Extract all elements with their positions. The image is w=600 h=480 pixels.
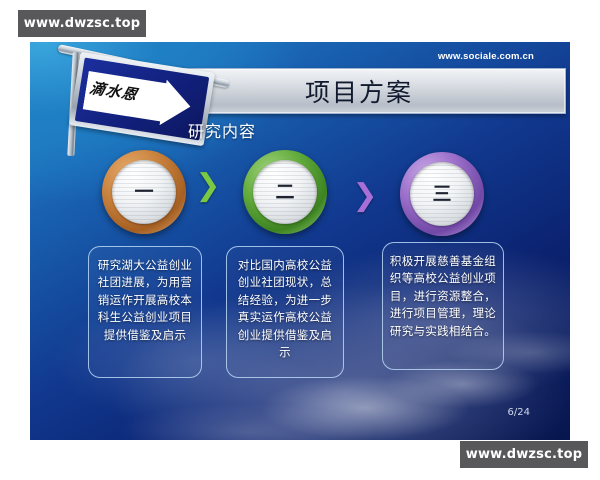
presentation-slide: www.sociale.com.cn 项目方案 滴水恩 研究内容 一 ❯ [30, 42, 570, 440]
step-textbox-3: 积极开展慈善基金组织等高校公益创业项目，进行资源整合，进行项目管理，理论研究与实… [382, 242, 504, 370]
step-textbox-1: 研究湖大公益创业社团进展，为用营销运作开展高校本科生公益创业项目提供借鉴及启示 [88, 246, 202, 378]
connector-arrow-2-icon: ❯ [352, 182, 378, 212]
connector-arrow-1-icon: ❯ [195, 172, 221, 202]
watermark-top-left: www.dwzsc.top [18, 10, 146, 37]
screenshot-root: www.sociale.com.cn 项目方案 滴水恩 研究内容 一 ❯ [0, 0, 600, 480]
step-circle-3: 三 [400, 152, 484, 236]
step-circle-1: 一 [102, 150, 186, 234]
watermark-bottom-right: www.dwzsc.top [460, 441, 588, 468]
step-disc-2: 二 [253, 160, 317, 224]
page-title: 项目方案 [305, 73, 413, 109]
step-disc-1: 一 [112, 160, 176, 224]
step-numeral-2: 二 [275, 183, 294, 202]
step-circle-2: 二 [243, 150, 327, 234]
site-url-label: www.sociale.com.cn [438, 51, 534, 62]
step-numeral-3: 三 [432, 185, 451, 204]
section-subtitle: 研究内容 [188, 118, 256, 142]
step-disc-3: 三 [410, 162, 474, 226]
step-textbox-2: 对比国内高校公益创业社团现状，总结经验，为进一步真实运作高校公益创业提供借鉴及启… [226, 246, 344, 378]
page-number: 6/24 [508, 407, 530, 418]
step-numeral-1: 一 [134, 183, 153, 202]
